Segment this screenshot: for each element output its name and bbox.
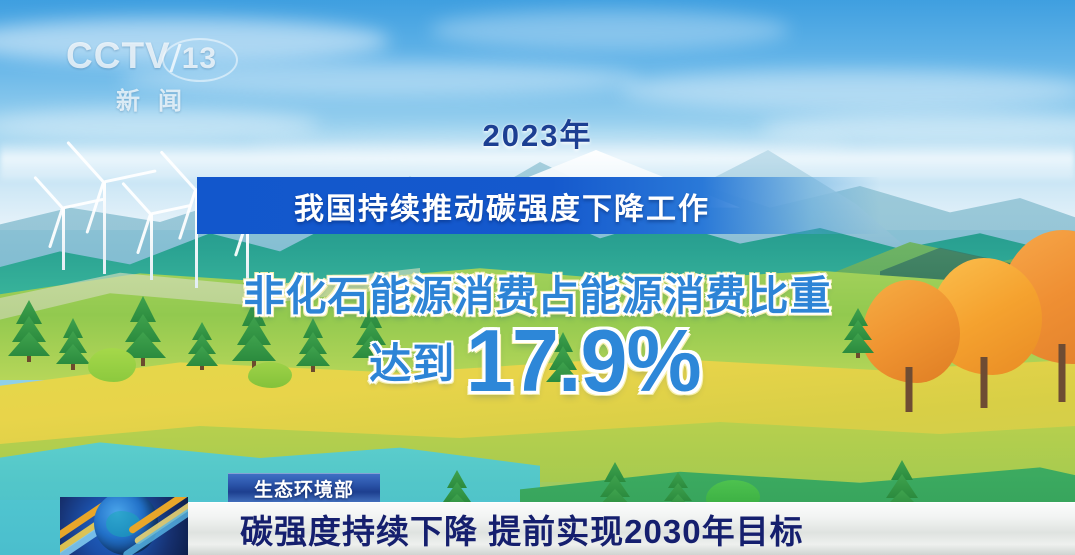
cctv-channel-logo: CCTV13 新闻 [66,36,236,112]
wind-turbine-icon [74,182,134,274]
cloud-icon [430,10,790,50]
source-tag: 生态环境部 [228,473,380,503]
source-tag-text: 生态环境部 [254,475,354,502]
stat-prefix: 达到 [369,330,455,391]
lower-third-bar: 碳强度持续下降 提前实现2030年目标 [88,502,1075,555]
cloud-icon [620,70,1075,110]
broadcast-frame: CCTV13 新闻 2023年 我国持续推动碳强度下降工作 非化石能源消费占能源… [0,0,1075,555]
headline-banner: 我国持续推动碳强度下降工作 [197,177,880,234]
logo-cctv-text: CCTV [66,35,171,76]
lower-third-headline: 碳强度持续下降 提前实现2030年目标 [240,502,804,555]
stat-value: 17.9% [466,322,701,399]
stat-value-row: 达到 17.9% [0,322,1075,399]
headline-banner-text: 我国持续推动碳强度下降工作 [197,177,807,234]
year-label: 2023年 [0,110,1075,155]
globe-icon [60,497,188,555]
